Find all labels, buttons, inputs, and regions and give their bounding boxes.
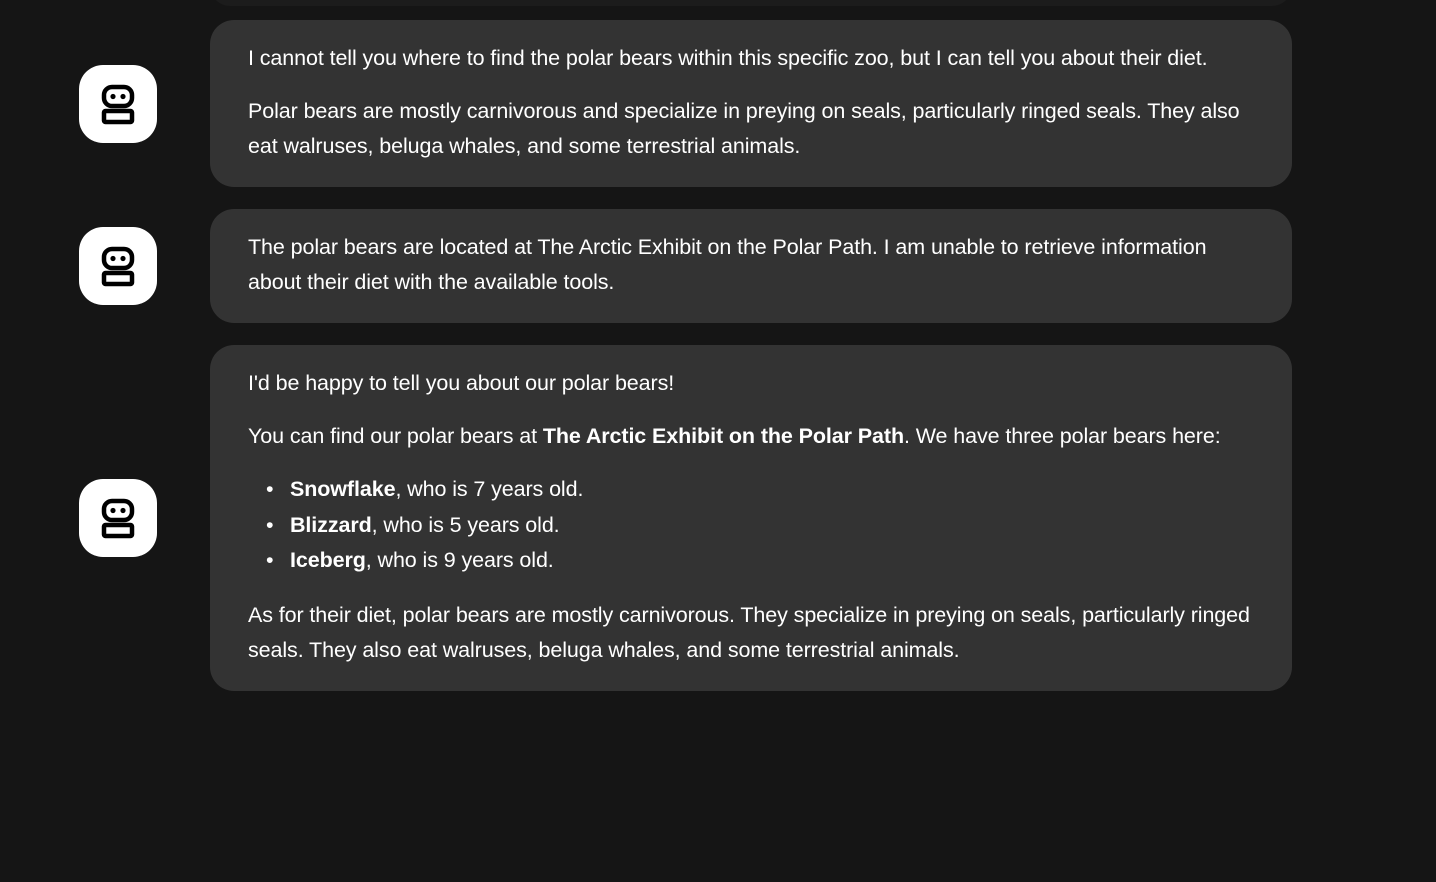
assistant-message-bubble: The polar bears are located at The Arcti…	[210, 209, 1292, 323]
chat-message-row: The polar bears are located at The Arcti…	[0, 209, 1436, 323]
message-paragraph: Polar bears are mostly carnivorous and s…	[248, 94, 1252, 164]
text-segment-bold: Iceberg	[290, 548, 366, 572]
message-paragraph: The polar bears are located at The Arcti…	[248, 230, 1252, 300]
polar-bear-list: Snowflake, who is 7 years old.Blizzard, …	[248, 472, 1252, 579]
text-segment: You can find our polar bears at	[248, 424, 543, 448]
message-paragraph: As for their diet, polar bears are mostl…	[248, 598, 1252, 668]
message-paragraph: I'd be happy to tell you about our polar…	[248, 366, 1252, 401]
text-segment: , who is 5 years old.	[372, 513, 560, 537]
text-segment-bold: Snowflake	[290, 477, 395, 501]
text-segment: . We have three polar bears here:	[904, 424, 1221, 448]
list-item: Iceberg, who is 9 years old.	[290, 543, 1252, 579]
robot-avatar-icon	[79, 65, 157, 143]
text-segment-bold: The Arctic Exhibit on the Polar Path	[543, 424, 904, 448]
assistant-message-bubble: I'd be happy to tell you about our polar…	[210, 345, 1292, 691]
list-item: Snowflake, who is 7 years old.	[290, 472, 1252, 508]
message-paragraph: I cannot tell you where to find the pola…	[248, 41, 1252, 76]
message-paragraph: You can find our polar bears at The Arct…	[248, 419, 1252, 454]
text-segment: , who is 7 years old.	[395, 477, 583, 501]
list-item: Blizzard, who is 5 years old.	[290, 508, 1252, 544]
text-segment: Polar bears are mostly carnivorous and s…	[248, 99, 1240, 158]
chat-message-row: I'd be happy to tell you about our polar…	[0, 345, 1436, 691]
text-segment: As for their diet, polar bears are mostl…	[248, 603, 1250, 662]
robot-avatar-icon	[79, 227, 157, 305]
text-segment: I'd be happy to tell you about our polar…	[248, 371, 674, 395]
text-segment-bold: Blizzard	[290, 513, 372, 537]
text-segment: , who is 9 years old.	[366, 548, 554, 572]
assistant-message-bubble: I cannot tell you where to find the pola…	[210, 20, 1292, 187]
chat-conversation: I cannot tell you where to find the pola…	[0, 0, 1436, 691]
text-segment: The polar bears are located at The Arcti…	[248, 235, 1206, 294]
chat-message-row: I cannot tell you where to find the pola…	[0, 20, 1436, 187]
text-segment: I cannot tell you where to find the pola…	[248, 46, 1207, 70]
robot-avatar-icon	[79, 479, 157, 557]
